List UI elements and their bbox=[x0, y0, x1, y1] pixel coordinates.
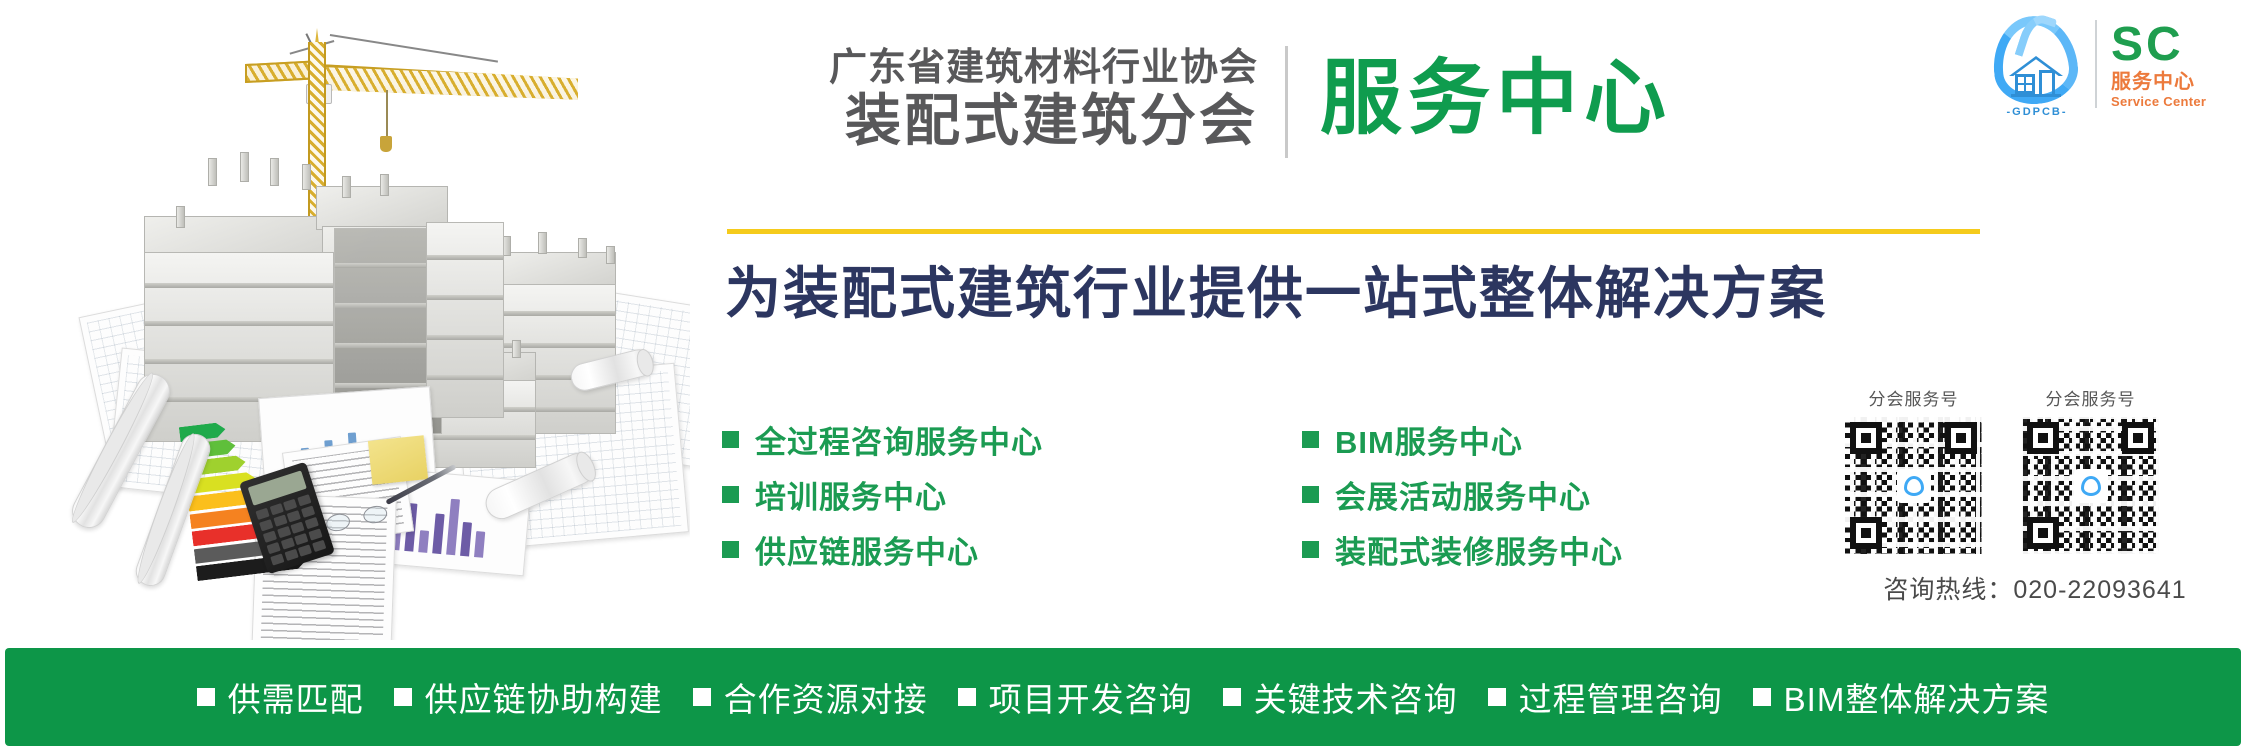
square-bullet-icon bbox=[722, 486, 739, 503]
footer-label: 合作资源对接 bbox=[724, 673, 928, 721]
footer-label: 过程管理咨询 bbox=[1519, 673, 1723, 721]
house-door-icon bbox=[2039, 70, 2055, 96]
qr-code-row: 分会服务号 分会服务号 bbox=[1845, 385, 2225, 554]
main-tagline: 为装配式建筑行业提供一站式整体解决方案 bbox=[725, 258, 1827, 330]
qr-code-image[interactable] bbox=[2022, 417, 2159, 554]
square-bullet-icon bbox=[1488, 688, 1506, 706]
footer-item-project-development[interactable]: 项目开发咨询 bbox=[958, 673, 1193, 721]
hotline-text: 咨询热线：020-22093641 bbox=[1845, 570, 2225, 606]
service-label: 会展活动服务中心 bbox=[1335, 472, 1591, 517]
square-bullet-icon bbox=[1223, 688, 1241, 706]
footer-item-process-management[interactable]: 过程管理咨询 bbox=[1488, 673, 1723, 721]
service-label: BIM服务中心 bbox=[1335, 417, 1523, 462]
qr-finder-icon bbox=[1850, 422, 1882, 454]
square-bullet-icon bbox=[1302, 431, 1319, 448]
service-item-bim[interactable]: BIM服务中心 bbox=[1302, 417, 1812, 462]
promotional-banner: 广东省建筑材料行业协会 装配式建筑分会 服务中心 为装配式建筑行业提供一站式整体… bbox=[0, 0, 2246, 752]
house-window-icon bbox=[2015, 74, 2035, 94]
sc-label-english: Service Center bbox=[2111, 94, 2223, 110]
service-label: 培训服务中心 bbox=[755, 472, 947, 517]
square-bullet-icon bbox=[1302, 541, 1319, 558]
association-branch: 装配式建筑分会 bbox=[728, 90, 1258, 152]
square-bullet-icon bbox=[1753, 688, 1771, 706]
sc-logo: SC 服务中心 Service Center bbox=[2111, 18, 2223, 110]
footer-item-partner-resources[interactable]: 合作资源对接 bbox=[693, 673, 928, 721]
service-label: 装配式装修服务中心 bbox=[1335, 527, 1623, 572]
qr-finder-icon bbox=[1945, 422, 1977, 454]
qr-finder-icon bbox=[2122, 422, 2154, 454]
association-name: 广东省建筑材料行业协会 bbox=[728, 46, 1258, 90]
footer-label: BIM整体解决方案 bbox=[1784, 673, 2050, 721]
footer-label: 供需匹配 bbox=[228, 673, 364, 721]
construction-site-image bbox=[30, 0, 690, 640]
footer-item-bim-solution[interactable]: BIM整体解决方案 bbox=[1753, 673, 2050, 721]
square-bullet-icon bbox=[722, 541, 739, 558]
title-divider bbox=[1285, 46, 1288, 158]
qr-label: 分会服务号 bbox=[2022, 385, 2159, 410]
sc-label-chinese: 服务中心 bbox=[2111, 70, 2223, 94]
gdpcb-logo: -GDPCB- bbox=[1985, 12, 2089, 116]
service-item-full-process-consulting[interactable]: 全过程咨询服务中心 bbox=[722, 417, 1302, 462]
service-center-list: 全过程咨询服务中心 BIM服务中心 培训服务中心 会展活动服务中心 供应链服务中… bbox=[722, 412, 1812, 577]
qr-finder-icon bbox=[2027, 517, 2059, 549]
crane-hoist-line bbox=[386, 90, 388, 138]
association-title: 广东省建筑材料行业协会 装配式建筑分会 bbox=[728, 46, 1258, 152]
brand-logo-group: -GDPCB- SC 服务中心 Service Center bbox=[1985, 10, 2235, 118]
sc-monogram: SC bbox=[2111, 20, 2223, 70]
sticky-note bbox=[368, 435, 428, 485]
qr-code-cell: 分会服务号 bbox=[1845, 385, 1982, 554]
crane-hook bbox=[380, 136, 392, 152]
service-item-prefab-decoration[interactable]: 装配式装修服务中心 bbox=[1302, 527, 1812, 572]
square-bullet-icon bbox=[1302, 486, 1319, 503]
qr-finder-icon bbox=[1850, 517, 1882, 549]
logo-separator bbox=[2095, 20, 2097, 108]
service-center-heading: 服务中心 bbox=[1320, 44, 1672, 154]
service-label: 全过程咨询服务中心 bbox=[755, 417, 1043, 462]
footer-label: 供应链协助构建 bbox=[425, 673, 663, 721]
qr-finder-icon bbox=[2027, 422, 2059, 454]
gdpcb-wordmark: -GDPCB- bbox=[1985, 106, 2089, 118]
qr-center-logo bbox=[2074, 469, 2108, 503]
service-item-exhibition[interactable]: 会展活动服务中心 bbox=[1302, 472, 1812, 517]
house-base-icon bbox=[2011, 94, 2061, 97]
yellow-divider-rule bbox=[727, 229, 1980, 234]
service-item-training[interactable]: 培训服务中心 bbox=[722, 472, 1302, 517]
service-label: 供应链服务中心 bbox=[755, 527, 979, 572]
footer-label: 项目开发咨询 bbox=[989, 673, 1193, 721]
service-item-supply-chain[interactable]: 供应链服务中心 bbox=[722, 527, 1302, 572]
qr-code-block: 分会服务号 分会服务号 咨询热线 bbox=[1845, 385, 2225, 606]
square-bullet-icon bbox=[197, 688, 215, 706]
footer-item-supply-demand-match[interactable]: 供需匹配 bbox=[197, 673, 364, 721]
square-bullet-icon bbox=[693, 688, 711, 706]
footer-service-bar: 供需匹配 供应链协助构建 合作资源对接 项目开发咨询 关键技术咨询 过程管理咨询… bbox=[5, 648, 2241, 746]
square-bullet-icon bbox=[722, 431, 739, 448]
qr-label: 分会服务号 bbox=[1845, 385, 1982, 410]
square-bullet-icon bbox=[394, 688, 412, 706]
qr-center-logo bbox=[1897, 469, 1931, 503]
qr-code-cell: 分会服务号 bbox=[2022, 385, 2159, 554]
square-bullet-icon bbox=[958, 688, 976, 706]
footer-item-supply-chain-build[interactable]: 供应链协助构建 bbox=[394, 673, 663, 721]
qr-code-image[interactable] bbox=[1845, 417, 1982, 554]
footer-item-key-technology[interactable]: 关键技术咨询 bbox=[1223, 673, 1458, 721]
footer-label: 关键技术咨询 bbox=[1254, 673, 1458, 721]
